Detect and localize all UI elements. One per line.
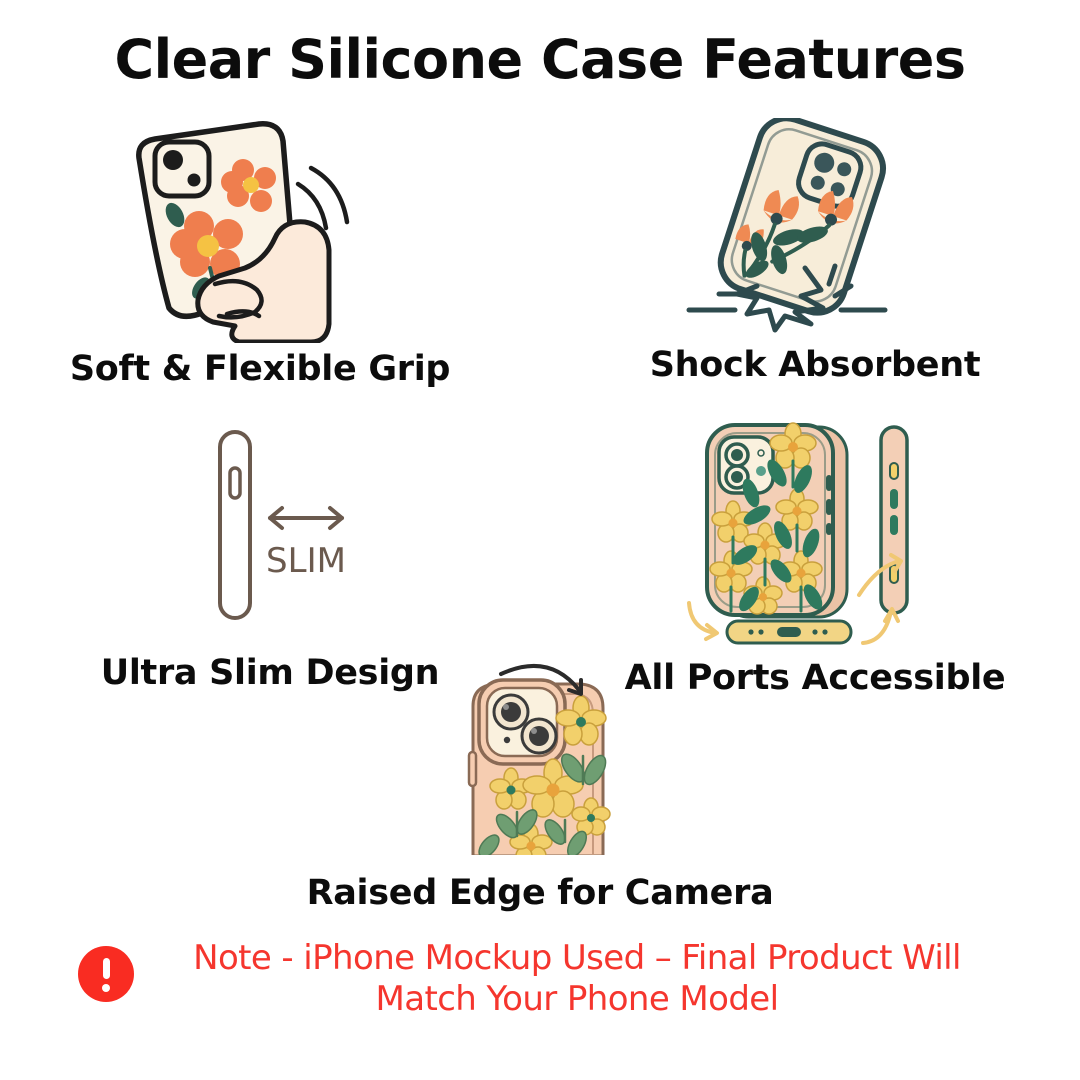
phone-case-drop-impact-icon <box>600 118 1030 333</box>
feature-ultra-slim-design: SLIM Ultra Slim Design <box>60 420 480 693</box>
exclamation-bar <box>103 958 110 979</box>
phone-edge-profile-icon: SLIM <box>60 420 480 635</box>
slim-annotation-text: SLIM <box>266 541 346 581</box>
exclamation-badge-icon <box>78 946 134 1002</box>
feature-label: Soft & Flexible Grip <box>35 349 485 389</box>
exclamation-dot <box>102 984 110 992</box>
infographic-page: Clear Silicone Case Features <box>0 0 1080 1080</box>
feature-soft-flexible-grip: Soft & Flexible Grip <box>35 118 485 389</box>
feature-label: Shock Absorbent <box>600 345 1030 385</box>
hand-flexing-phone-case-icon <box>35 118 485 343</box>
note-row: Note - iPhone Mockup Used – Final Produc… <box>0 938 1080 1021</box>
feature-label: Raised Edge for Camera <box>290 873 790 913</box>
feature-shock-absorbent: Shock Absorbent <box>600 118 1030 385</box>
page-title: Clear Silicone Case Features <box>0 30 1080 89</box>
phone-case-ports-cutouts-icon <box>600 415 1030 640</box>
note-text: Note - iPhone Mockup Used – Final Produc… <box>152 938 1002 1021</box>
feature-raised-edge-for-camera: Raised Edge for Camera <box>290 660 790 913</box>
phone-case-raised-camera-icon <box>290 660 790 855</box>
feature-all-ports-accessible: All Ports Accessible <box>600 415 1030 698</box>
